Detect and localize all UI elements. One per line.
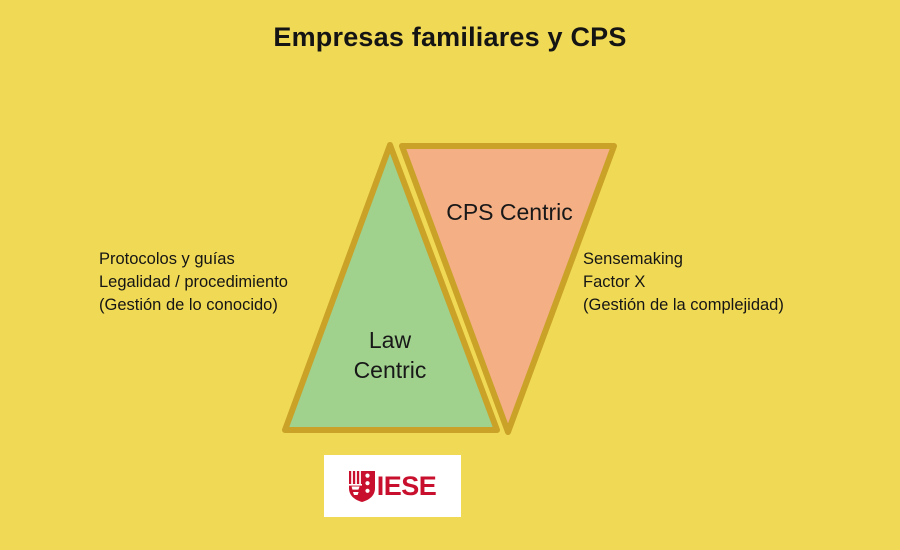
iese-wordmark: IESE (377, 473, 437, 500)
slide-canvas: Empresas familiares y CPS CPS Centric La… (0, 0, 900, 550)
iese-shield-crest-icon (349, 471, 375, 502)
left-annotation-text: Protocolos y guías Legalidad / procedimi… (99, 248, 359, 317)
right-annotation-text: Sensemaking Factor X (Gestión de la comp… (583, 248, 883, 317)
iese-logo: IESE (324, 455, 461, 517)
law-centric-label: Law Centric (300, 325, 480, 385)
cps-centric-label: CPS Centric (407, 197, 612, 227)
